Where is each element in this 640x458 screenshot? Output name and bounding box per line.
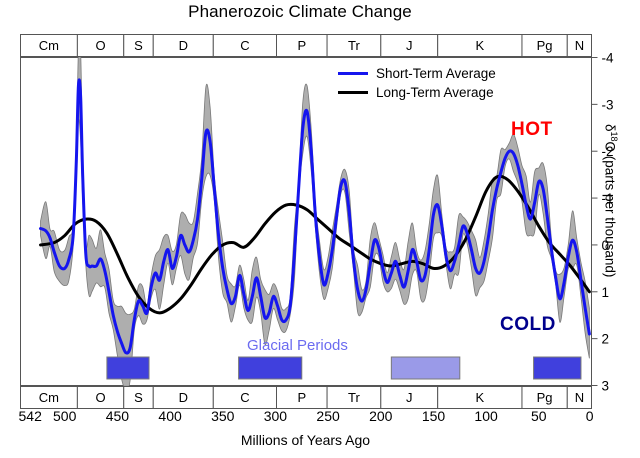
legend-swatch-long-term-icon — [338, 91, 368, 95]
glacial-periods-label: Glacial Periods — [247, 337, 348, 354]
climate-chart: CmOSDCPTrJKPgN CmOSDCPTrJKPgN -4-3-2-101… — [0, 0, 640, 458]
y-tick-label-7: 3 — [602, 379, 610, 394]
period-bottom-label-J: J — [406, 390, 413, 405]
period-top-label-C: C — [240, 38, 249, 53]
y-axis-label-text: O (parts per thousand) — [603, 142, 618, 278]
period-bottom-label-Pg: Pg — [537, 390, 553, 405]
cold-annotation: COLD — [500, 314, 556, 336]
x-tick-label-4: 350 — [211, 408, 235, 424]
period-top-label-D: D — [179, 38, 188, 53]
glacial-period-bar-2 — [239, 357, 302, 379]
x-axis-ticks: 542500450400350300250200150100500 — [19, 408, 594, 424]
chart-root: Phanerozoic Climate Change CmOSDCPTrJKPg… — [0, 0, 640, 458]
x-tick-label-0: 542 — [19, 408, 43, 424]
x-tick-label-2: 450 — [106, 408, 130, 424]
period-bottom-label-O: O — [96, 390, 106, 405]
glacial-period-bar-3 — [391, 357, 459, 379]
x-tick-label-9: 100 — [474, 408, 498, 424]
period-bottom-label-P: P — [297, 390, 306, 405]
period-bottom-label-Cm: Cm — [39, 390, 59, 405]
y-axis-label: δ18O (parts per thousand) — [603, 124, 620, 324]
y-axis-label-delta: δ — [603, 124, 618, 132]
period-top-label-P: P — [297, 38, 306, 53]
x-axis-label: Millions of Years Ago — [20, 432, 591, 448]
period-top-label-O: O — [96, 38, 106, 53]
y-tick-label-6: 2 — [602, 332, 610, 347]
period-top-label-S: S — [134, 38, 143, 53]
legend-label-long-term: Long-Term Average — [376, 85, 494, 100]
period-top-label-N: N — [575, 38, 584, 53]
x-tick-label-6: 250 — [316, 408, 340, 424]
glacial-period-bar-1 — [107, 357, 149, 379]
period-top-label-K: K — [475, 38, 484, 53]
period-band-bottom: CmOSDCPTrJKPgN — [21, 387, 592, 409]
x-tick-label-7: 200 — [369, 408, 393, 424]
period-bottom-label-S: S — [134, 390, 143, 405]
period-top-label-Cm: Cm — [39, 38, 59, 53]
x-tick-label-8: 150 — [422, 408, 446, 424]
chart-legend: Short-Term Average Long-Term Average — [338, 64, 496, 102]
x-tick-label-3: 400 — [158, 408, 182, 424]
period-top-label-J: J — [406, 38, 413, 53]
legend-item-long-term: Long-Term Average — [338, 83, 496, 102]
hot-annotation: HOT — [511, 119, 553, 141]
glacial-period-bar-4 — [534, 357, 581, 379]
legend-swatch-short-term-icon — [338, 72, 368, 76]
y-tick-label-1: -3 — [602, 97, 614, 112]
y-tick-label-0: -4 — [602, 51, 614, 66]
period-band-top: CmOSDCPTrJKPgN — [21, 35, 592, 57]
x-tick-label-1: 500 — [53, 408, 77, 424]
legend-label-short-term: Short-Term Average — [376, 66, 496, 81]
y-axis-label-superscript: 18 — [609, 132, 619, 142]
period-bottom-label-K: K — [475, 390, 484, 405]
period-top-label-Tr: Tr — [348, 38, 360, 53]
period-bottom-label-C: C — [240, 390, 249, 405]
x-tick-label-11: 0 — [586, 408, 594, 424]
period-top-label-Pg: Pg — [537, 38, 553, 53]
x-tick-label-5: 300 — [264, 408, 288, 424]
period-bottom-label-N: N — [575, 390, 584, 405]
period-bottom-label-Tr: Tr — [348, 390, 360, 405]
x-tick-label-10: 50 — [531, 408, 547, 424]
period-bottom-label-D: D — [179, 390, 188, 405]
legend-item-short-term: Short-Term Average — [338, 64, 496, 83]
